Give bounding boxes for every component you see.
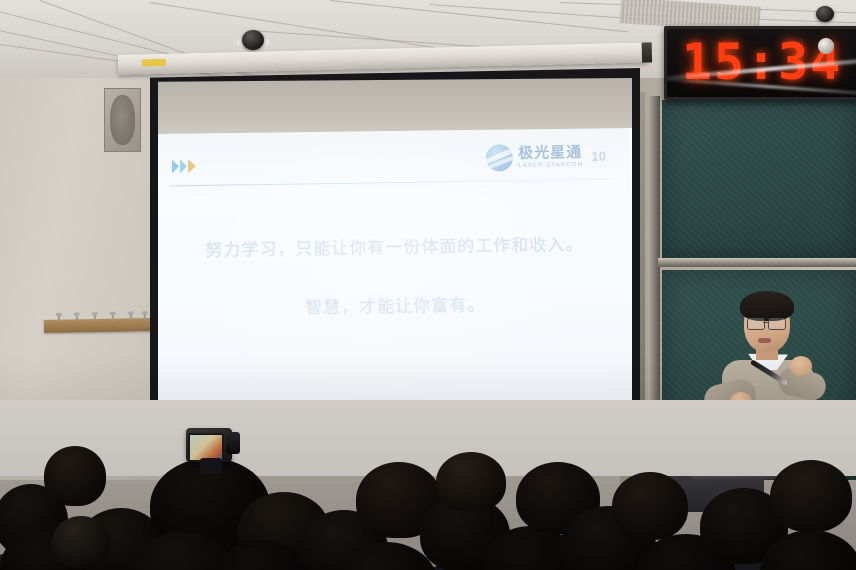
wall-sensor-icon (818, 38, 834, 54)
slide-line-2: 智慧，才能让你富有。 (158, 295, 632, 319)
coat-hook-5[interactable] (130, 312, 132, 320)
presenter-mouth (758, 338, 771, 343)
audience (0, 400, 856, 570)
slide-body-text: 努力学习，只能让你有一份体面的工作和收入。 智慧，才能让你富有。 (158, 236, 632, 319)
ceiling-dome-sensor-icon-2 (816, 6, 834, 22)
audience-backwall (0, 400, 856, 476)
slide-header-divider (170, 179, 616, 187)
wall-speaker (104, 88, 141, 152)
slide-chevron-decoration (172, 159, 196, 173)
audience-head-17 (612, 472, 688, 540)
roller-label-sticker (142, 59, 166, 67)
slide-line-1: 努力学习，只能让你有一份体面的工作和收入。 (158, 236, 631, 260)
camcorder-grip (200, 458, 222, 474)
speaker-grill-icon (110, 95, 135, 145)
coat-hook-rail[interactable] (44, 318, 154, 333)
audience-head-2 (44, 446, 106, 506)
coat-hook-2[interactable] (76, 313, 78, 321)
presenter-right-hand (790, 356, 812, 376)
coat-hook-1[interactable] (58, 314, 60, 322)
chevron-right-icon-1 (172, 159, 179, 173)
logo-english-name: LASER STARCOM (518, 162, 583, 169)
coat-hook-3[interactable] (94, 313, 96, 321)
blackboard-upper (662, 100, 856, 258)
glasses-left-lens-icon (747, 318, 765, 330)
chevron-right-icon-3 (188, 159, 196, 173)
company-logo: 极光星通 LASER STARCOM 10 (486, 143, 606, 172)
audience-head-22 (52, 516, 110, 568)
presenter-hair (740, 291, 794, 321)
logo-globe-icon (486, 144, 513, 171)
slide-page-number: 10 (591, 149, 606, 164)
chevron-right-icon-2 (180, 159, 187, 173)
coat-hook-4[interactable] (112, 313, 114, 321)
camcorder-lens-icon (226, 432, 240, 454)
audience-head-20 (770, 460, 852, 532)
roller-end-cap (642, 42, 652, 62)
ceiling-dome-sensor-icon (242, 30, 264, 50)
lecture-hall-photo: 15:34 极光星通 LASER STARCOM 10 (0, 0, 856, 570)
glasses-right-lens-icon (768, 318, 786, 330)
ceiling-grid-line-4 (330, 0, 628, 32)
coat-hook-6[interactable] (144, 312, 146, 320)
logo-chinese-name: 极光星通 (518, 145, 583, 161)
blackboard-chalk-rail-upper (658, 258, 856, 267)
audience-head-13 (436, 452, 506, 512)
glasses-bridge-icon (763, 322, 768, 323)
